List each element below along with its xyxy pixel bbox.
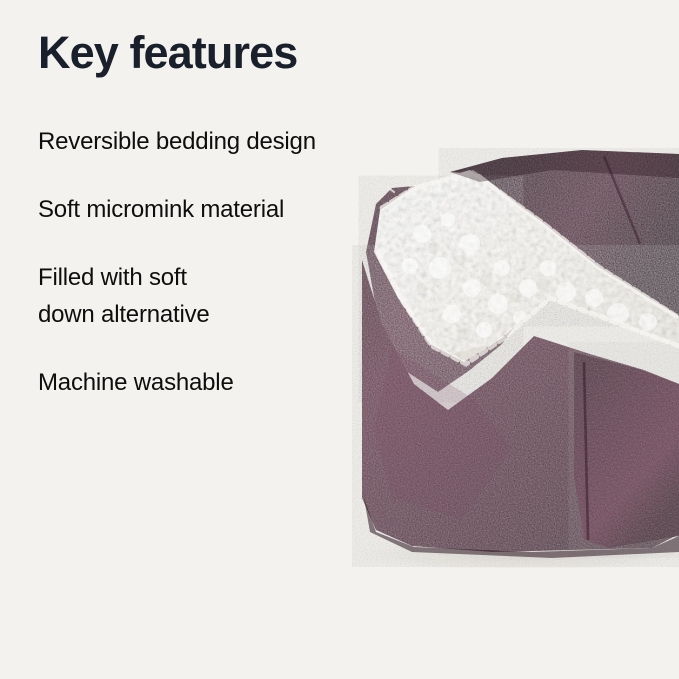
page-title: Key features	[38, 0, 378, 80]
key-features-panel: Key features Reversible bedding design S…	[0, 0, 679, 679]
feature-item-soft-micromink-material: Soft micromink material	[38, 191, 378, 228]
feature-item-machine-washable: Machine washable	[38, 364, 378, 401]
feature-list: Reversible bedding design Soft micromink…	[38, 123, 378, 401]
blanket-right-panel	[574, 352, 679, 548]
feature-item-reversible-bedding-design: Reversible bedding design	[38, 123, 378, 160]
blanket-illustration	[352, 148, 679, 568]
product-image	[352, 148, 679, 568]
text-column: Key features Reversible bedding design S…	[38, 0, 378, 401]
feature-item-filled-with-soft-down-alternative: Filled with soft down alternative	[38, 259, 378, 333]
